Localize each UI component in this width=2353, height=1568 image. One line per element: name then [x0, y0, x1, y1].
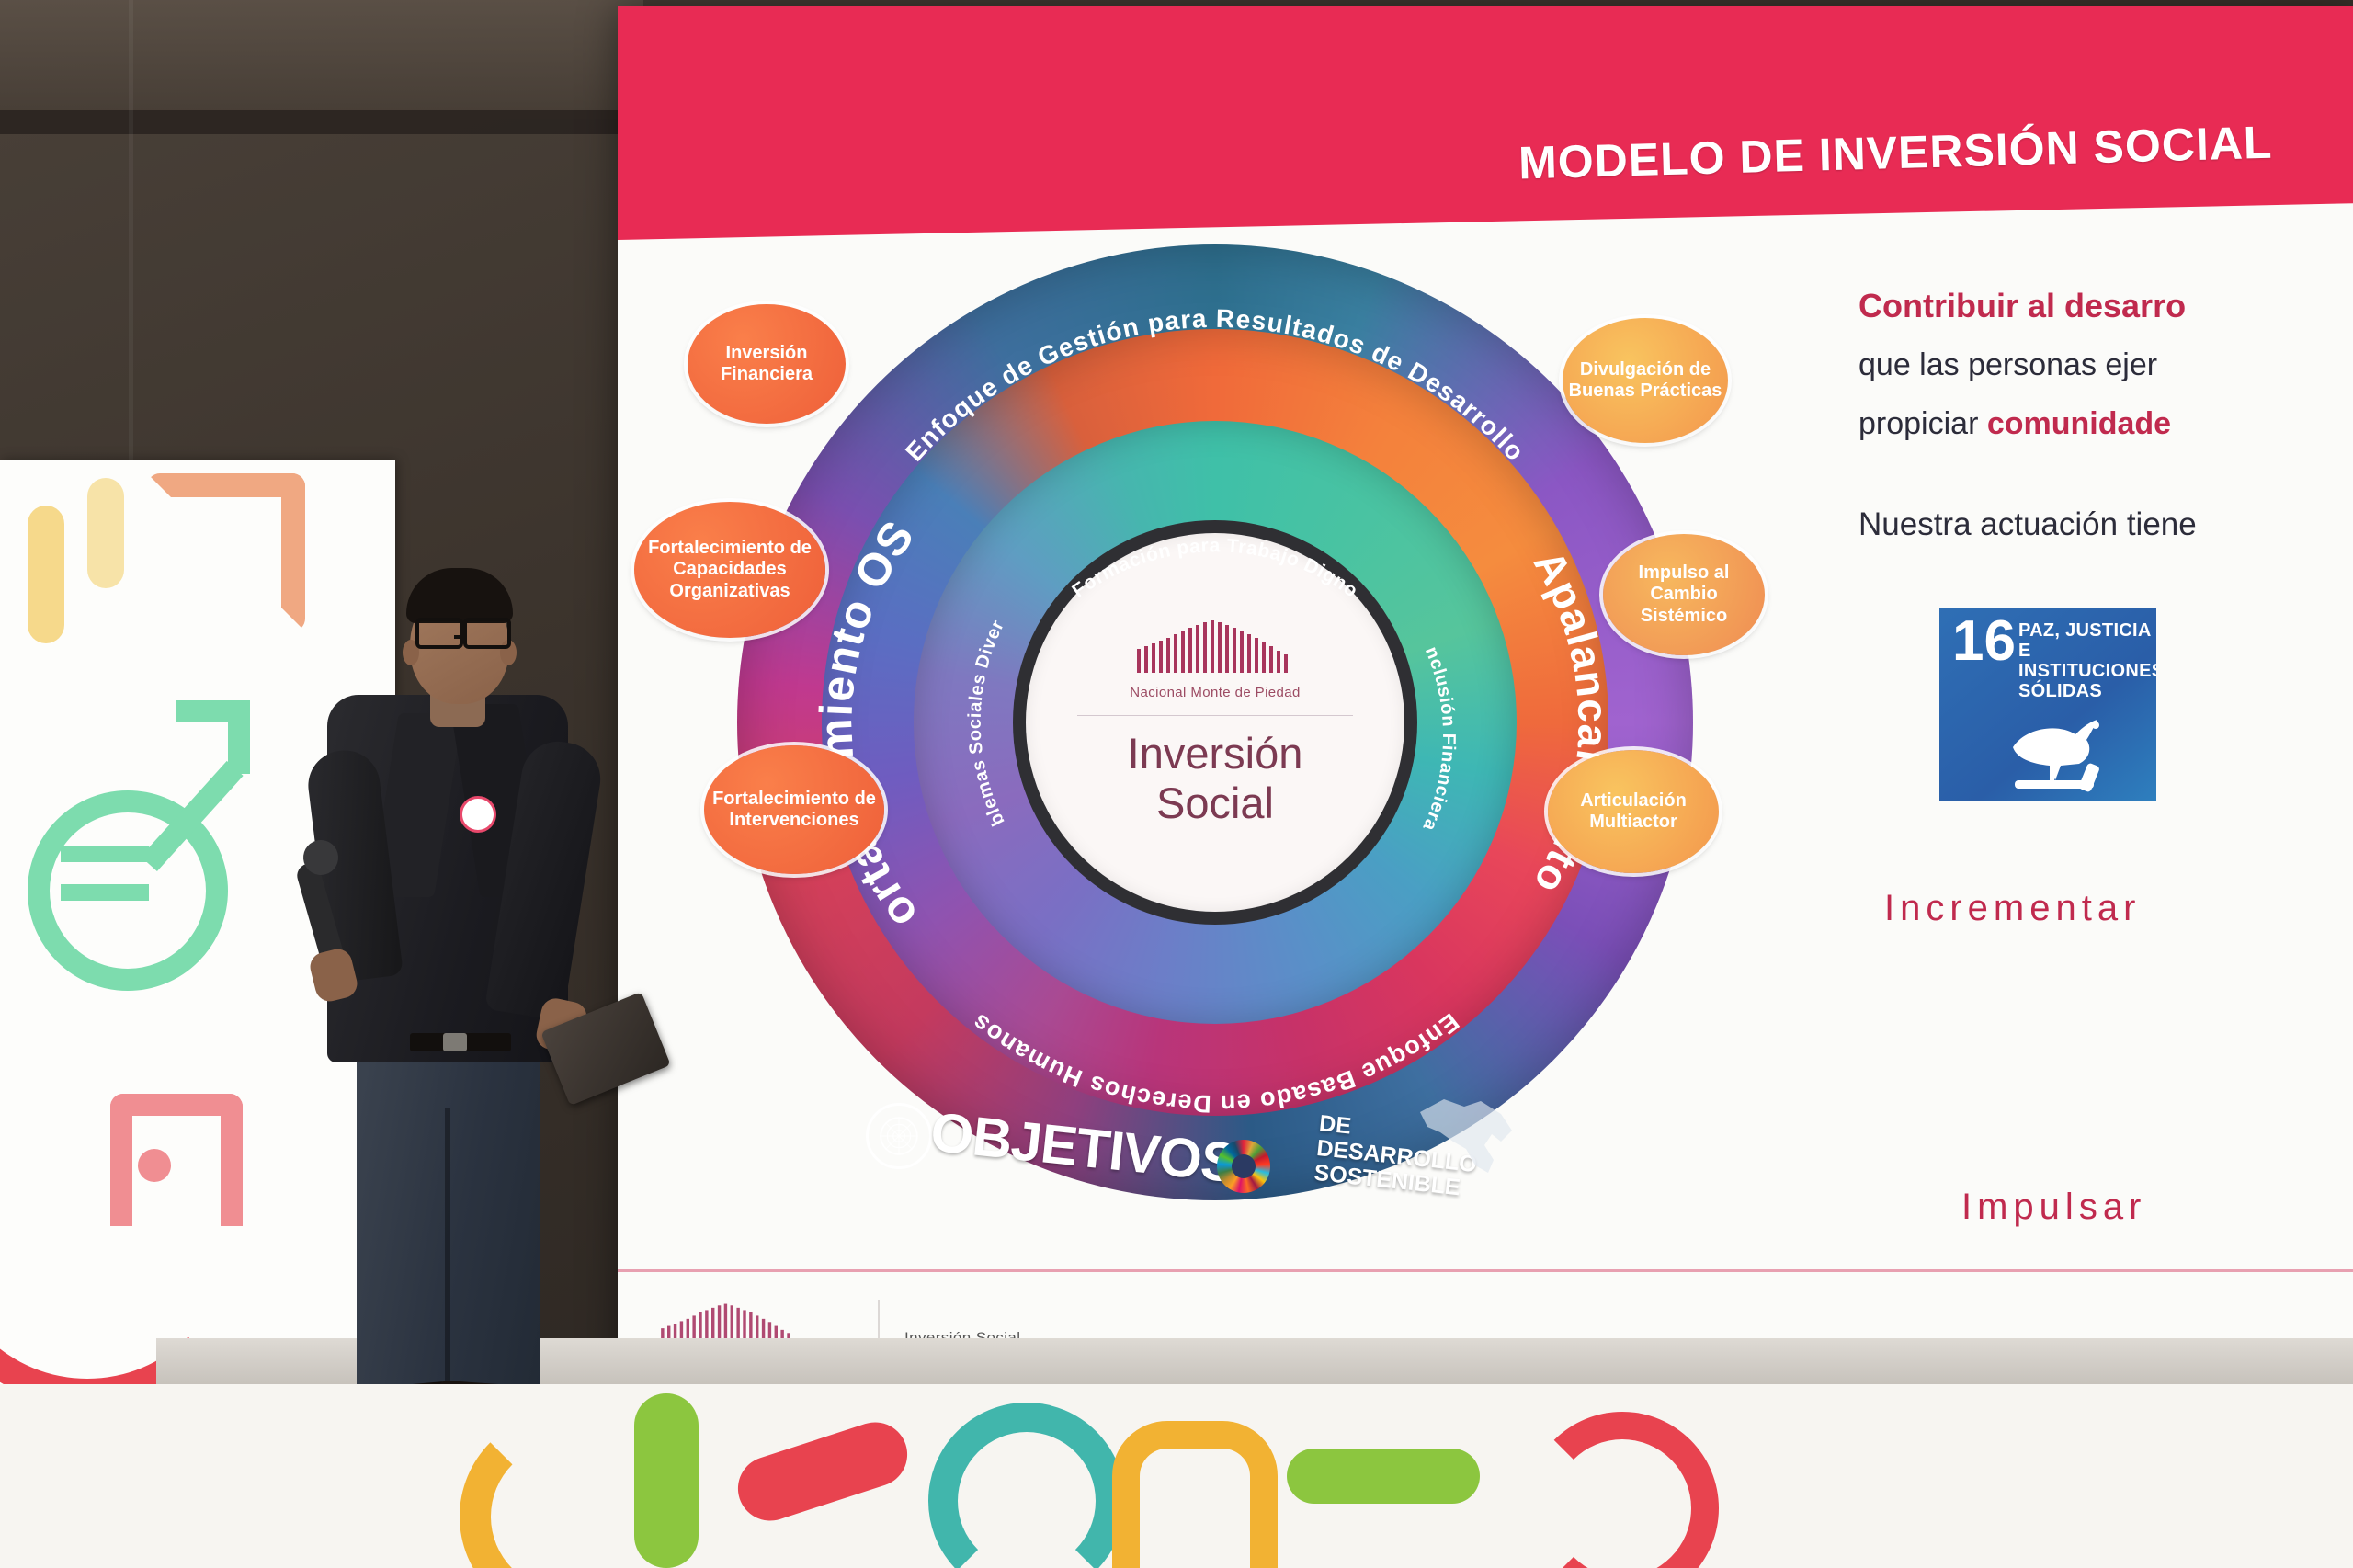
- un-emblem-icon: [866, 1103, 932, 1169]
- presenter-leg-split: [445, 1108, 450, 1412]
- sdg-colour-wheel-icon: [1217, 1140, 1270, 1193]
- investment-model-diagram: Nacional Monte de Piedad Inversión Socia…: [645, 217, 1785, 1256]
- gender-symbol-bar-2: [61, 884, 149, 901]
- projection-screen: MODELO DE INVERSIÓN SOCIAL Contribuir al…: [618, 6, 2353, 1393]
- floor-shape-pill-green-2: [1287, 1449, 1480, 1504]
- bubble-articulacion-multiactor[interactable]: Articulación Multiactor: [1548, 750, 1719, 873]
- core-title-line-1: Inversión: [1128, 729, 1303, 778]
- body-line-2: que las personas ejer: [1859, 347, 2157, 382]
- banner-shape-pill-yellow: [28, 506, 64, 643]
- body-line-3-strong: comunidade: [1987, 406, 2171, 441]
- presenter-hair: [406, 568, 513, 623]
- bubble-inversion-financiera[interactable]: Inversión Financiera: [688, 304, 846, 424]
- banner-shape-pill-yellow-2: [87, 478, 124, 588]
- floor-shape-arc-red: [1526, 1412, 1719, 1568]
- ceiling-beam: [0, 0, 643, 119]
- body-paragraph-2: Nuestra actuación tiene: [1859, 506, 2197, 543]
- ceiling-soffit: [0, 110, 643, 134]
- body-line-3-prefix: propiciar: [1859, 406, 1987, 441]
- floor-shape-pill-green: [634, 1393, 699, 1568]
- floor-shape-arc-teal: [928, 1403, 1125, 1568]
- sdg-16-badge: 16 PAZ, JUSTICIA E INSTITUCIONES SÓLIDAS: [1939, 608, 2156, 801]
- sdg-label: PAZ, JUSTICIA E INSTITUCIONES SÓLIDAS: [2018, 620, 2156, 701]
- glasses-icon-bridge: [454, 635, 467, 639]
- footer-divider: [618, 1269, 2353, 1272]
- glasses-icon-left-lens: [415, 618, 463, 649]
- banner-shape-arch-pink: [110, 1094, 243, 1226]
- bubble-fortalecimiento-capacidades[interactable]: Fortalecimiento de Capacidades Organizat…: [634, 502, 825, 638]
- photo-stage: MODELO DE INVERSIÓN SOCIAL Contribuir al…: [0, 0, 2353, 1568]
- ods-word: OBJETIVOS: [927, 1100, 1240, 1196]
- bubble-impulso-cambio-sistemico[interactable]: Impulso al Cambio Sistémico: [1603, 534, 1765, 655]
- bubble-fortalecimiento-intervenciones[interactable]: Fortalecimiento de Intervenciones: [704, 745, 884, 874]
- bubble-divulgacion-buenas-practicas[interactable]: Divulgación de Buenas Prácticas: [1563, 318, 1728, 443]
- core-divider: [1077, 715, 1353, 716]
- presenter-lapel-badge: [460, 796, 496, 833]
- diagram-core-content: Nacional Monte de Piedad Inversión Socia…: [1026, 533, 1404, 912]
- sdg-number: 16: [1952, 615, 2016, 668]
- dove-gavel-icon: [1995, 707, 2132, 794]
- highlight-impulsar: Impulsar: [1961, 1187, 2146, 1228]
- core-title-line-2: Social: [1156, 778, 1274, 828]
- gender-symbol-arrow-v: [228, 700, 250, 774]
- wall-edge: [129, 0, 133, 478]
- banner-shape-dot-pink: [138, 1149, 171, 1182]
- floor-shape-arch-yellow: [1112, 1421, 1278, 1568]
- monte-de-piedad-logo-icon: [1128, 618, 1302, 682]
- ods-lockup: OBJETIVOS DE DESARROLLO SOSTENIBLE: [866, 1099, 1381, 1210]
- highlight-incrementar: Incrementar: [1884, 888, 2141, 929]
- floor-shape-pill-red: [730, 1414, 915, 1528]
- gender-symbol-bar-1: [61, 846, 149, 862]
- presenter: [276, 437, 643, 1412]
- body-line-1-strong: Contribuir al desarro: [1859, 287, 2186, 324]
- presenter-belt-buckle: [443, 1033, 467, 1051]
- glasses-icon-right-lens: [463, 618, 511, 649]
- decorative-floor-strip: [0, 1384, 2353, 1568]
- slide-body-text: Contribuir al desarro que las personas e…: [1859, 281, 2353, 458]
- core-logo-caption: Nacional Monte de Piedad: [1130, 685, 1301, 700]
- mexico-map-icon: [1413, 1081, 1523, 1191]
